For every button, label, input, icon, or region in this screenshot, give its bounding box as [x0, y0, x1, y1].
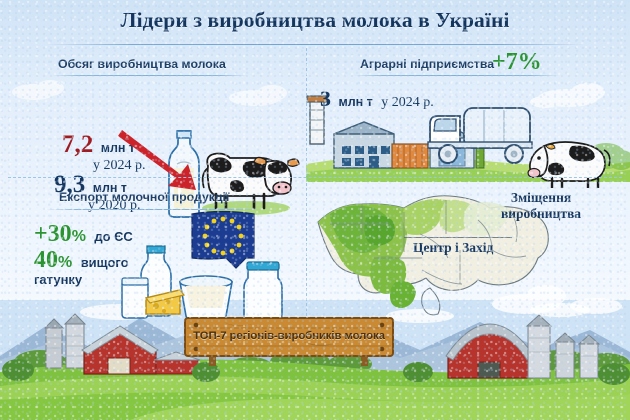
- map-caption-line2: виробництва: [501, 206, 581, 221]
- infographic-root: Лідери з виробництва молока в Україні Об…: [0, 0, 630, 420]
- panel-agro-rule: [354, 75, 559, 76]
- panel-milk-volume: Обсяг виробництва молока: [0, 48, 306, 177]
- page-title: Лідери з виробництва молока в Україні: [0, 8, 630, 33]
- panel-dairy-export: Експорт молочної продукції: [0, 180, 306, 316]
- map-label-rule: [404, 237, 512, 238]
- top7-sign-text: ТОП-7 регіонів-виробників молока: [183, 316, 395, 356]
- stat-unit: млн т: [338, 95, 372, 109]
- agro-growth-badge: +7%: [492, 50, 542, 74]
- panel-milk-volume-rule: [52, 75, 247, 76]
- horizontal-divider: [8, 177, 622, 178]
- dairy-products-icon: [120, 232, 310, 322]
- stat-export-eu: +30% до ЄС: [34, 222, 133, 246]
- stat-value: 7,2: [62, 131, 93, 158]
- vertical-divider: [306, 48, 307, 316]
- map-caption-line1: Зміщення: [511, 190, 571, 205]
- panel-milk-volume-heading: Обсяг виробництва молока: [58, 57, 226, 71]
- stat-percent: %: [72, 228, 86, 245]
- stat-label: вищого: [81, 255, 129, 270]
- stat-year: у 2024 р.: [381, 95, 434, 110]
- stat-value: +30: [34, 221, 72, 247]
- panel-agro-heading: Аграрні підприємства: [360, 57, 494, 71]
- map-caption: Зміщення виробництва: [466, 190, 616, 222]
- top7-sign[interactable]: ТОП-7 регіонів-виробників молока: [183, 316, 395, 366]
- cloud-decoration: [466, 276, 630, 320]
- stat-value: 40: [34, 247, 58, 273]
- panel-export-rule: [46, 209, 262, 210]
- map-region-label: Центр і Захід: [413, 240, 493, 256]
- stat-export-grade-extra: гатунку: [34, 272, 82, 287]
- stat-percent: %: [58, 254, 72, 271]
- stat-value: 3: [320, 86, 331, 111]
- title-bar: Лідери з виробництва молока в Україні: [0, 0, 630, 48]
- panel-agro-enterprises: Аграрні підприємства +7%: [306, 48, 630, 177]
- stat-label: до ЄС: [94, 229, 132, 244]
- stat-agro-2024: 3 млн т у 2024 р.: [320, 88, 434, 111]
- stat-export-grade: 40% вищого: [34, 248, 129, 272]
- panel-export-heading: Експорт молочної продукції: [59, 190, 229, 204]
- title-divider: [46, 44, 584, 45]
